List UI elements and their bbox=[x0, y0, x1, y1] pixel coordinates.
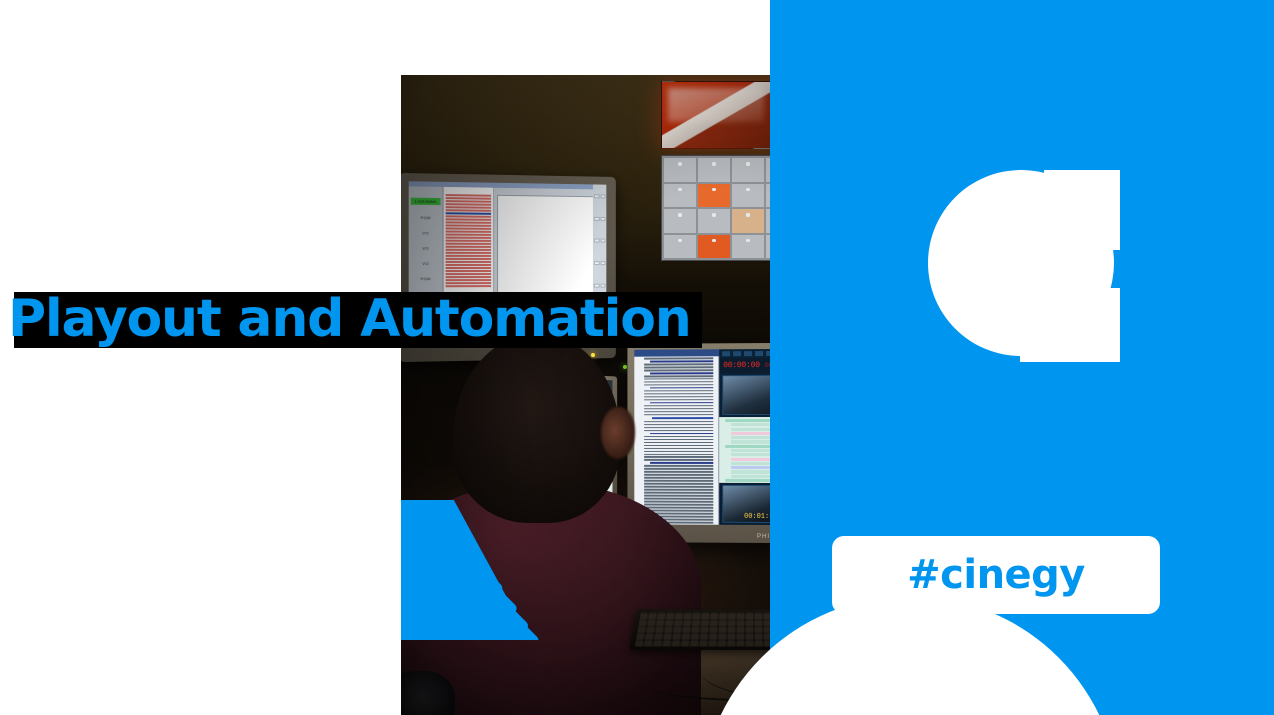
banner-stage: LIVE/MAN PGM VO VO VO PGM TELCAM VO bbox=[0, 0, 1274, 715]
playlist-schedule-grid bbox=[719, 417, 912, 484]
timecode-bottom: 00:01:37:07 bbox=[744, 513, 790, 521]
page-margin-top bbox=[401, 0, 770, 75]
audio-level-meter bbox=[868, 375, 875, 415]
video-wall-magenta-b bbox=[946, 225, 1047, 279]
timecode-primary: 00:00:00 bbox=[723, 361, 760, 370]
operator-ear bbox=[601, 407, 635, 459]
transport-button-pad bbox=[879, 374, 909, 414]
crt-label-vo-1: VO bbox=[422, 230, 429, 235]
video-wall-main-screen bbox=[661, 81, 809, 149]
timecode-row: 00:00:00 00:00:25 12:14:00 bbox=[719, 357, 912, 373]
video-wall-magenta-a bbox=[946, 163, 1047, 221]
crt-status-label: LIVE/MAN bbox=[411, 198, 441, 206]
output-button-pad bbox=[785, 485, 909, 524]
video-wall-violet-strip bbox=[821, 297, 936, 323]
multiviewer-grid bbox=[661, 155, 801, 261]
tree-window-secondary bbox=[1012, 379, 1047, 500]
hashtag-label: #cinegy bbox=[907, 552, 1085, 598]
crt-label-vo-2: VO bbox=[422, 246, 429, 251]
control-room-photo: LIVE/MAN PGM VO VO VO PGM TELCAM VO bbox=[401, 75, 1047, 715]
video-wall-quad-a bbox=[821, 163, 936, 225]
right-config-monitor bbox=[909, 351, 1047, 530]
cinegy-c-mouth-upper bbox=[1044, 170, 1120, 250]
tally-light-green-2 bbox=[409, 511, 413, 515]
hashtag-badge[interactable]: #cinegy bbox=[832, 536, 1160, 614]
main-playout-monitor: 00:00:00 00:00:25 12:14:00 bbox=[627, 342, 919, 544]
timecode-secondary: 00:00:25 bbox=[765, 362, 796, 369]
preview-video-a bbox=[722, 375, 792, 415]
tally-light-yellow-2 bbox=[906, 527, 910, 531]
page-title: Playout and Automation bbox=[8, 284, 691, 354]
tree-window-primary bbox=[920, 363, 1009, 504]
page-margin-left bbox=[0, 0, 401, 715]
tally-light-green-1 bbox=[623, 365, 627, 369]
crt-label-vo-3: VO bbox=[422, 261, 429, 266]
crt-label-pgm-1: PGM bbox=[421, 215, 431, 220]
video-wall-blue-strip bbox=[946, 283, 1047, 305]
crt-label-pgm-2: PGM bbox=[421, 276, 431, 281]
studio-clock: 12:14:00 bbox=[859, 359, 908, 370]
rundown-text-pane bbox=[634, 349, 719, 524]
preview-program-row bbox=[719, 372, 912, 417]
video-wall-quad-b bbox=[821, 231, 936, 291]
program-video-b bbox=[795, 375, 865, 415]
keyboard bbox=[629, 609, 867, 650]
